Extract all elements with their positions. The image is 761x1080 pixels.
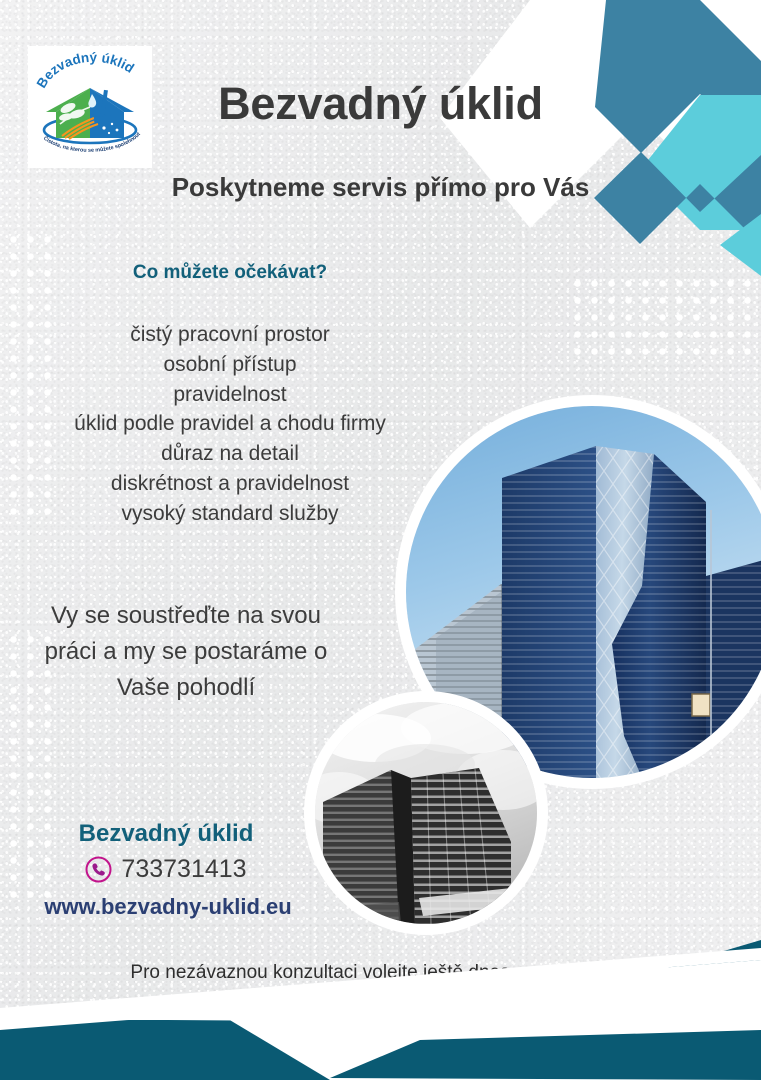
footer-cta: Pro nezávaznou konzultaci volejte ještě … [0, 962, 640, 984]
list-item: pravidelnost [0, 380, 460, 410]
list-item: diskrétnost a pravidelnost [0, 469, 460, 499]
poster: Bezvadný úklid [0, 0, 761, 1080]
contact-row: 733731413 [36, 855, 296, 884]
expectations-list: čistý pracovní prostor osobní přístup pr… [0, 320, 460, 529]
focus-statement: Vy se soustřeďte na svou práci a my se p… [36, 598, 336, 706]
list-item: čistý pracovní prostor [0, 320, 460, 350]
teal-wedge-bottom [330, 1030, 761, 1080]
expectations-heading: Co můžete očekávat? [0, 262, 460, 284]
list-item: osobní přístup [0, 350, 460, 380]
page-title: Bezvadný úklid [0, 78, 761, 130]
brand-name: Bezvadný úklid [36, 820, 296, 848]
phone-number[interactable]: 733731413 [121, 855, 246, 884]
skyscraper-bw-photo [315, 702, 537, 924]
list-item: důraz na detail [0, 439, 460, 469]
page-subtitle: Poskytneme servis přímo pro Vás [0, 172, 761, 203]
website-link[interactable]: www.bezvadny-uklid.eu [28, 894, 308, 920]
list-item: vysoký standard služby [0, 499, 460, 529]
dot-grid-right [566, 272, 761, 360]
phone-icon[interactable] [85, 856, 112, 883]
list-item: úklid podle pravidel a chodu firmy [0, 409, 460, 439]
teal-polygon-left [0, 1013, 330, 1080]
